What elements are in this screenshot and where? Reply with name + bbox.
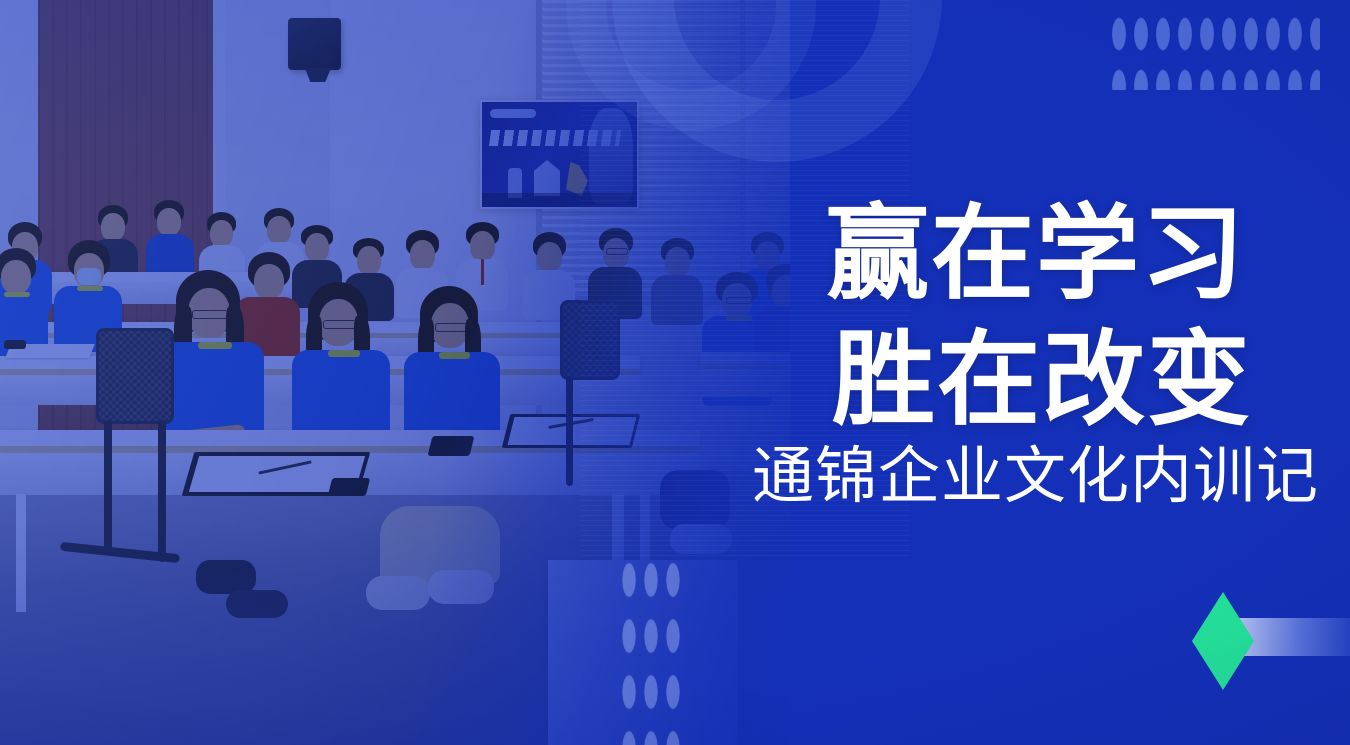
headline-line-1: 赢在学习 bbox=[826, 191, 1296, 317]
gradient-bar bbox=[1238, 618, 1350, 656]
headline: 赢在学习 胜在改变 bbox=[826, 191, 1296, 442]
headline-line-2: 胜在改变 bbox=[832, 317, 1296, 443]
dot-grid-bottom-left bbox=[618, 552, 688, 745]
subtitle: 通锦企业文化内训记 bbox=[752, 444, 1292, 509]
dot-grid-top-right bbox=[1108, 8, 1320, 90]
promotional-banner: 赢在学习 胜在改变 通锦企业文化内训记 bbox=[0, 0, 1350, 745]
